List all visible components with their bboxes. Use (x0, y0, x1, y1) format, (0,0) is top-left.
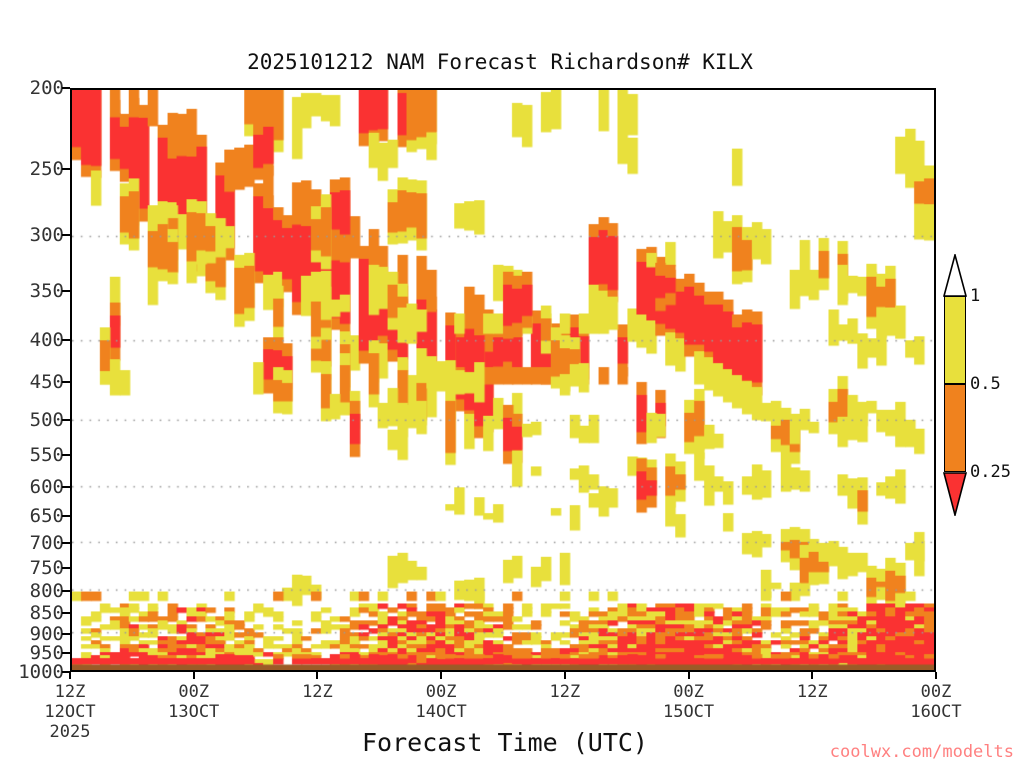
x-tick-label: 12Z (549, 682, 580, 702)
x-tick-mark (688, 672, 690, 679)
x-tick-label: 00Z 14OCT (416, 682, 467, 722)
x-tick-mark (811, 672, 813, 679)
x-tick-label: 12Z (302, 682, 333, 702)
x-tick-mark (935, 672, 937, 679)
colorbar-tick-label: 1 (970, 286, 980, 306)
colorbar-tick-label: 0.5 (970, 374, 1001, 394)
colorbar-segment (944, 384, 966, 472)
x-tick-mark (69, 672, 71, 679)
x-axis: 12Z 12OCT 202500Z 13OCT12Z00Z 14OCT12Z00… (0, 0, 1024, 768)
colorbar-legend: 10.50.25 (944, 296, 966, 472)
x-tick-label: 00Z 15OCT (663, 682, 714, 722)
colorbar-segment (944, 296, 966, 384)
colorbar-arrow-down (943, 471, 967, 516)
colorbar-arrow-up (943, 254, 967, 297)
colorbar-tick-label: 0.25 (970, 462, 1011, 482)
x-tick-mark (193, 672, 195, 679)
x-tick-label: 00Z 16OCT (910, 682, 961, 722)
credit-watermark: coolwx.com/modelts (0, 742, 1014, 762)
x-tick-label: 00Z 13OCT (168, 682, 219, 722)
x-tick-mark (564, 672, 566, 679)
x-tick-mark (440, 672, 442, 679)
x-tick-mark (316, 672, 318, 679)
chart-root: 2025101212 NAM Forecast Richardson# KILX… (0, 0, 1024, 768)
x-tick-label: 12Z (797, 682, 828, 702)
